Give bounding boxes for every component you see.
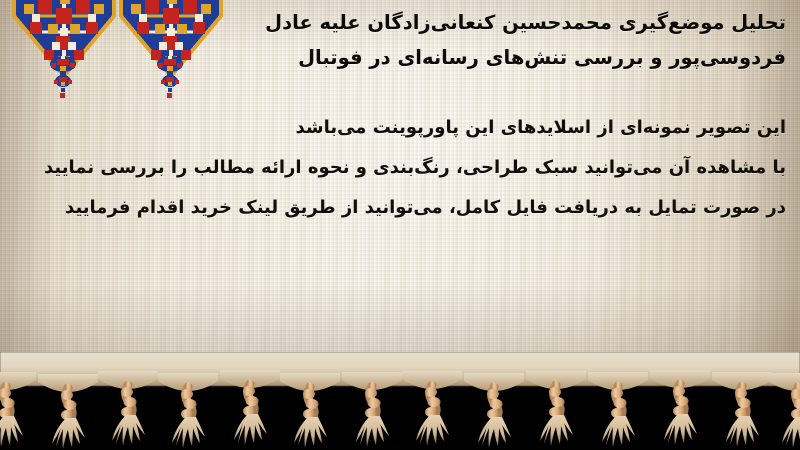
body-line-2: با مشاهده آن می‌توانید سبک طراحی، رنگ‌بن… bbox=[11, 148, 786, 188]
title-line-2: فردوسی‌پور و بررسی تنش‌های رسانه‌ای در ف… bbox=[16, 40, 786, 75]
body-line-1: این تصویر نمونه‌ای از اسلایدهای این پاور… bbox=[11, 108, 786, 148]
slide-canvas: تحلیل موضع‌گیری محمدحسین کنعانی‌زادگان ع… bbox=[0, 0, 800, 450]
body-line-3: در صورت تمایل به دریافت فایل کامل، می‌تو… bbox=[11, 188, 786, 228]
slide-body: این تصویر نمونه‌ای از اسلایدهای این پاور… bbox=[11, 108, 786, 228]
slide-title: تحلیل موضع‌گیری محمدحسین کنعانی‌زادگان ع… bbox=[16, 5, 786, 75]
slide-text-layer: تحلیل موضع‌گیری محمدحسین کنعانی‌زادگان ع… bbox=[0, 0, 800, 450]
title-line-1: تحلیل موضع‌گیری محمدحسین کنعانی‌زادگان ع… bbox=[16, 5, 786, 40]
